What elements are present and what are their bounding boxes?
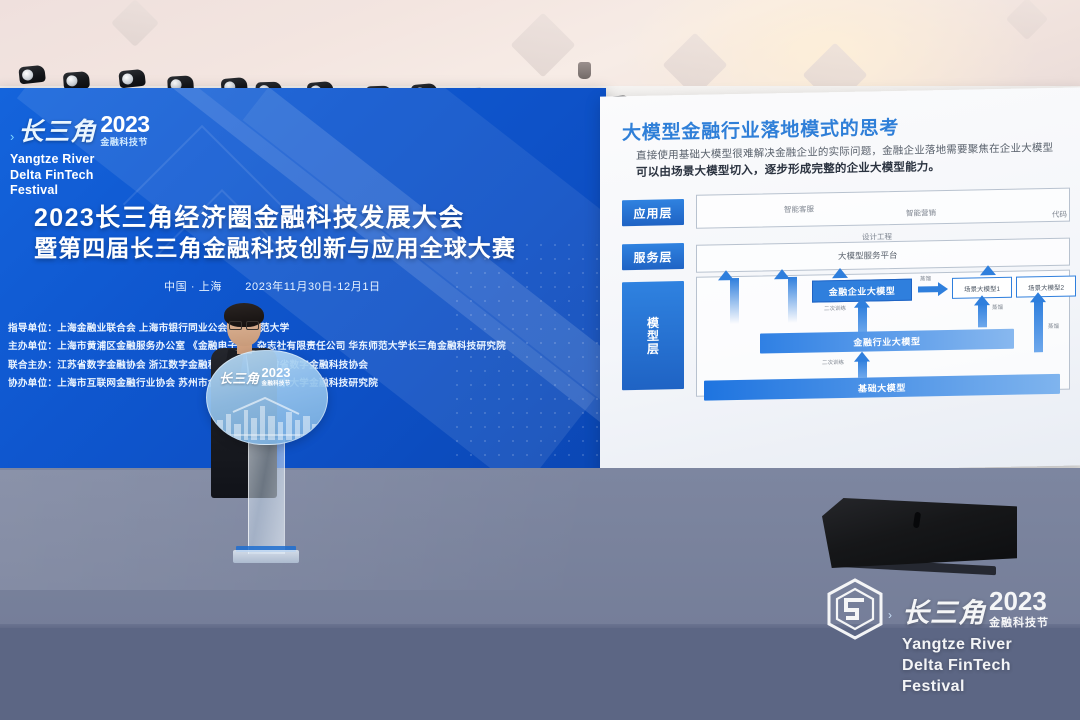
slide-app-item-1: 智能客服 <box>784 204 814 216</box>
monitor-body <box>822 498 1017 568</box>
slide-arrow-label: 二次训练 <box>822 358 844 366</box>
watermark-cn-mark: 长三角 <box>902 591 986 630</box>
watermark-en-line2: Delta FinTech <box>902 655 1012 676</box>
podium: 长三角 2023 金融科技节 <box>206 350 326 565</box>
logo-cn-mark: 长三角 <box>18 112 96 148</box>
slide-arrow-label: 蒸馏 <box>992 303 1003 311</box>
slide-arrow-head <box>774 269 790 279</box>
watermark-arrow-icon: › <box>888 608 892 622</box>
slide-application-layer-box <box>696 188 1070 229</box>
skyline-graphic <box>213 394 321 440</box>
slide-title: 大模型金融行业落地模式的思考 <box>622 113 899 145</box>
slide-arrow-up <box>730 278 739 324</box>
logo-subtitle: 金融科技节 <box>100 135 148 148</box>
slide-layer-tag-service: 服务层 <box>622 243 684 270</box>
slide-arrow-label: 蒸馏 <box>920 274 931 282</box>
event-date: 2023年11月30日-12月1日 <box>245 281 380 293</box>
slide-app-item-2: 智能营销 <box>906 207 936 219</box>
presentation-screen: 大模型金融行业落地模式的思考 直接使用基础大模型很难解决金融企业的实际问题，金融… <box>600 87 1080 474</box>
slide-arrow-right <box>918 286 940 292</box>
watermark-mark-row: 长三角 2023 金融科技节 <box>902 590 1049 630</box>
slide-scenario-model-box-2: 场景大模型2 <box>1016 276 1076 298</box>
logo-year: 2023 <box>100 114 149 136</box>
podium-base <box>233 550 299 563</box>
stage-light-icon <box>18 65 46 85</box>
logo-en-line1: Yangtze River <box>10 152 190 168</box>
watermark-subtitle: 金融科技节 <box>989 614 1049 630</box>
podium-year: 2023 <box>262 367 291 379</box>
podium-subtitle: 金融科技节 <box>262 379 291 387</box>
event-title-block: 2023长三角经济圈金融科技发展大会 暨第四届长三角金融科技创新与应用全球大赛 … <box>34 203 504 294</box>
hexagon-logo-icon <box>826 578 884 640</box>
slide-layer-tag-model: 模型层 <box>622 281 684 390</box>
logo-en-line3: Festival <box>10 183 190 199</box>
floor-monitor-speaker <box>822 498 1017 576</box>
eyeglasses-icon <box>229 321 259 329</box>
event-location: 中国 · 上海 <box>164 281 222 293</box>
festival-logo: › 长三角 2023 金融科技节 Yangtze River Delta Fin… <box>10 112 190 199</box>
slide-app-item-3: 代码 <box>1052 209 1067 220</box>
logo-arrow-icon: › <box>10 130 14 148</box>
slide-arrow-right-head <box>938 282 948 296</box>
slide-arrow-head <box>854 297 870 307</box>
slide-arrow-label: 二次训练 <box>824 304 846 312</box>
slide-arrow-head <box>854 351 870 361</box>
stage-light-icon <box>118 69 146 89</box>
watermark-en-line3: Festival <box>902 676 1012 697</box>
slide-layer-tag-application: 应用层 <box>622 199 684 226</box>
watermark-en-line1: Yangtze River <box>902 634 1012 655</box>
slide-arrow-label: 蒸馏 <box>1048 322 1059 330</box>
slide-arrow-head <box>718 270 734 280</box>
event-title-line1: 2023长三角经济圈金融科技发展大会 <box>34 203 504 234</box>
slide-arrow-head <box>974 295 990 305</box>
ceiling-panel-icon <box>111 0 159 47</box>
slide-arrow-head <box>1030 292 1046 302</box>
slide-arrow-head <box>832 268 848 278</box>
logo-en-line2: Delta FinTech <box>10 168 190 184</box>
watermark-year: 2023 <box>989 590 1047 613</box>
slide-service-item-2: 大模型服务平台 <box>838 249 898 262</box>
corner-watermark: › 长三角 2023 金融科技节 Yangtze River Delta Fin… <box>818 578 1068 714</box>
watermark-en-block: Yangtze River Delta FinTech Festival <box>902 634 1012 697</box>
slide-arrow-up <box>858 360 867 378</box>
podium-cn-mark: 长三角 <box>219 368 260 387</box>
slide-arrow-up <box>788 277 797 323</box>
slide-arrow-up <box>1034 300 1043 352</box>
podium-logo: 长三角 2023 金融科技节 <box>219 367 315 387</box>
conference-stage-photo: › 长三角 2023 金融科技节 Yangtze River Delta Fin… <box>0 0 1080 720</box>
event-title-line2: 暨第四届长三角金融科技创新与应用全球大赛 <box>34 234 504 264</box>
podium-front-panel: 长三角 2023 金融科技节 <box>206 350 328 445</box>
slide-arrow-up <box>978 303 987 327</box>
slide-content: 大模型金融行业落地模式的思考 直接使用基础大模型很难解决金融企业的实际问题，金融… <box>600 87 1080 474</box>
slide-arrow-up <box>858 306 867 334</box>
slide-arrow-head <box>980 265 996 275</box>
podium-stem <box>248 438 285 554</box>
event-datetime-line: 中国 · 上海 2023年11月30日-12月1日 <box>164 278 504 294</box>
